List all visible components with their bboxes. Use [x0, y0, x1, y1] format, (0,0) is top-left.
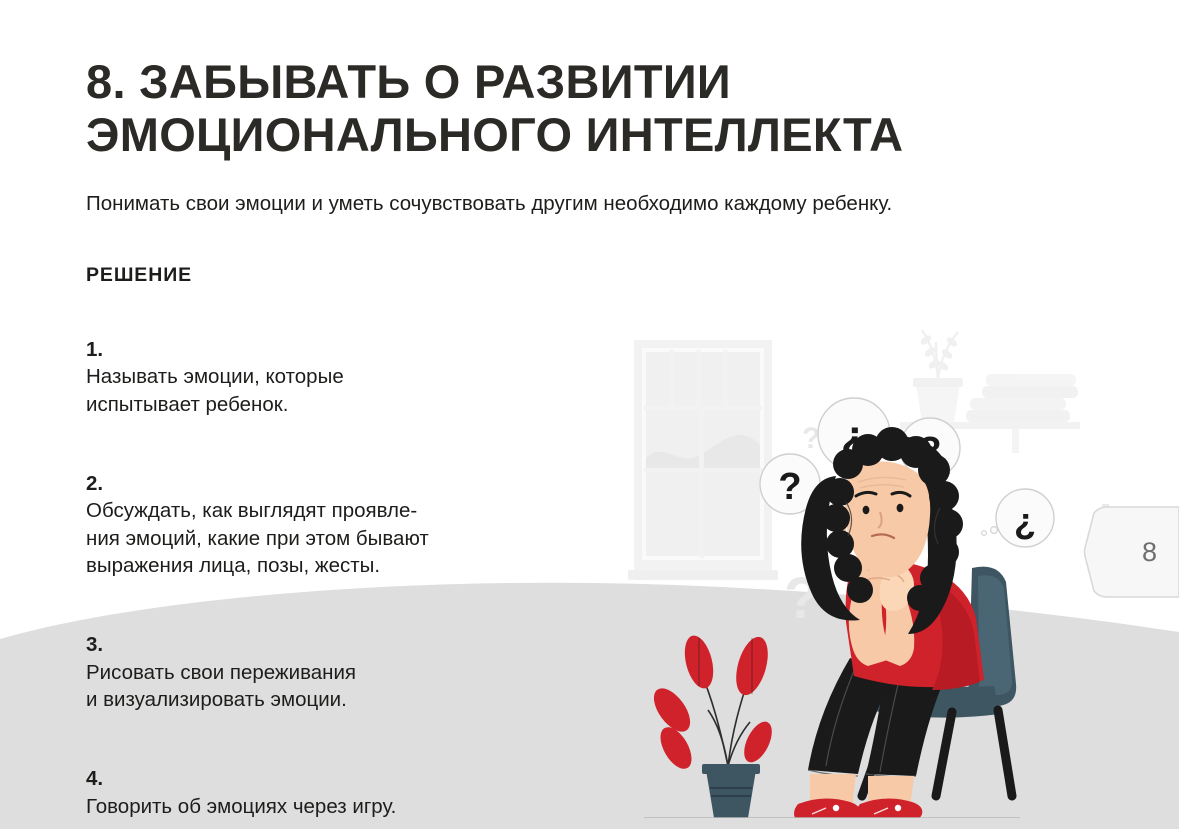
step-number: 4. [86, 767, 103, 790]
list-item: 2. Обсуждать, как выглядят проявле- ния … [86, 443, 556, 579]
solution-heading: РЕШЕНИЕ [86, 264, 1126, 287]
step-number: 2. [86, 472, 103, 495]
step-text: Обсуждать, как выглядят проявле- ния эмо… [86, 499, 429, 577]
step-text: Рисовать свои переживания и визуализиров… [86, 661, 356, 711]
list-item: 4. Говорить об эмоциях через игру. [86, 738, 556, 820]
step-number: 3. [86, 633, 103, 656]
step-text: Говорить об эмоциях через игру. [86, 795, 396, 818]
text-column: 8. ЗАБЫВАТЬ О РАЗВИТИИ ЭМОЦИОНАЛЬНОГО ИН… [86, 56, 1126, 820]
page-title: 8. ЗАБЫВАТЬ О РАЗВИТИИ ЭМОЦИОНАЛЬНОГО ИН… [86, 56, 1126, 161]
list-item: 3. Рисовать свои переживания и визуализи… [86, 604, 556, 713]
page-number-text: 8 [1142, 506, 1157, 598]
badge-shape [1083, 506, 1179, 598]
step-number: 1. [86, 338, 103, 361]
page-subtitle: Понимать свои эмоции и уметь сочувствова… [86, 190, 1126, 218]
page-number-badge: 8 [1083, 506, 1179, 598]
list-item: 1. Называть эмоции, которые испытывает р… [86, 309, 556, 418]
step-text: Называть эмоции, которые испытывает ребе… [86, 365, 344, 415]
solution-steps-list: 1. Называть эмоции, которые испытывает р… [86, 309, 556, 820]
slide-root: 8. ЗАБЫВАТЬ О РАЗВИТИИ ЭМОЦИОНАЛЬНОГО ИН… [0, 0, 1179, 829]
